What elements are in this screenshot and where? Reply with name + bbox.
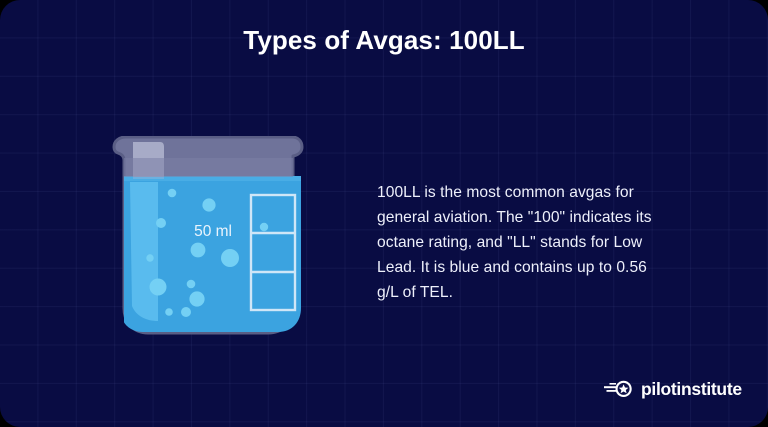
page-title: Types of Avgas: 100LL <box>0 22 768 58</box>
slide-canvas: Types of Avgas: 100LL <box>0 0 768 427</box>
beaker-illustration: 50 ml <box>112 136 304 336</box>
winged-shield-star-icon <box>604 379 634 399</box>
beaker-svg: 50 ml <box>112 136 304 336</box>
brand-logo: pilotinstitute <box>604 376 742 402</box>
beaker-rim-shading <box>124 158 293 177</box>
volume-label: 50 ml <box>194 223 232 240</box>
brand-logo-text: pilotinstitute <box>641 379 742 399</box>
body-paragraph: 100LL is the most common avgas for gener… <box>377 180 667 305</box>
